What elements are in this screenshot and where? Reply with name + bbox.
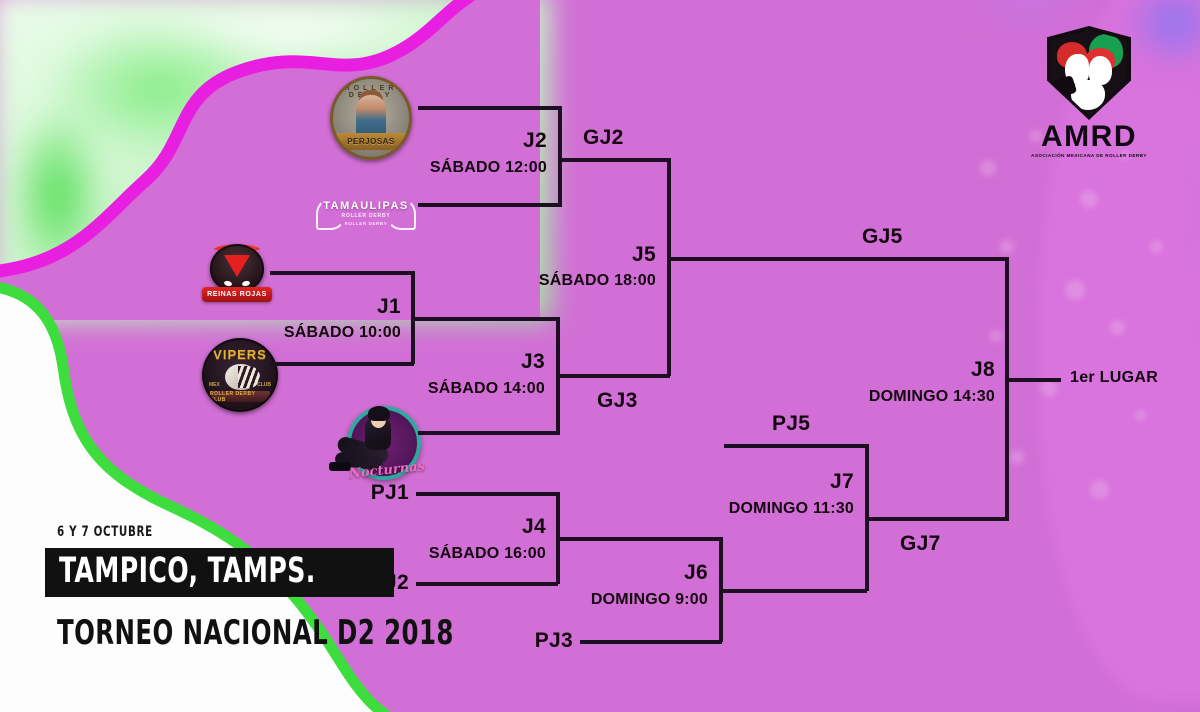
bracket-line-j6-out [719, 589, 867, 593]
vipers-pin-left: MEX [209, 382, 220, 388]
match-code-j7: J7 [830, 470, 854, 494]
team-logo-reinas-rojas: REINAS ROJAS [200, 230, 274, 302]
bracket-line-pj2 [416, 582, 558, 586]
team-logo-tamaulipas: TAMAULIPAS ROLLER DERBY ROLLER DERBY [314, 190, 418, 236]
bracket-connector-j2 [558, 106, 562, 207]
match-code-j4: J4 [522, 515, 546, 539]
amrd-logo: AMRD ASOCIACIÓN MEXICANA DE ROLLER DERBY [1030, 26, 1148, 158]
match-code-j3: J3 [521, 350, 545, 374]
match-time-j1: SÁBADO 10:00 [284, 324, 401, 342]
match-time-j3: SÁBADO 14:00 [428, 380, 545, 398]
event-title: TORNEO NACIONAL D2 2018 [57, 616, 553, 650]
bracket-line-gj3-out [556, 374, 670, 378]
vipers-name: VIPERS [204, 347, 276, 362]
match-time-j7: DOMINGO 11:30 [729, 500, 854, 518]
slot-label-pj5: PJ5 [772, 412, 810, 436]
match-code-j5: J5 [632, 243, 656, 267]
amrd-skater-arms [1071, 80, 1105, 110]
event-title-text: TORNEO NACIONAL D2 2018 [57, 616, 454, 650]
reinas-name-ribbon: REINAS ROJAS [202, 287, 272, 302]
bracket-connector-j8 [1005, 257, 1009, 519]
vipers-pin-right: CLUB [257, 382, 271, 388]
amrd-full-name: ASOCIACIÓN MEXICANA DE ROLLER DERBY [1030, 153, 1148, 158]
tamaulipas-subtitle-2: ROLLER DERBY [345, 221, 388, 226]
event-city-banner: TAMPICO, TAMPS. [45, 548, 394, 597]
tamaulipas-name: TAMAULIPAS [323, 200, 408, 212]
slot-label-gj5: GJ5 [862, 225, 903, 249]
bracket-line-final-out [1005, 378, 1061, 382]
slot-label-gj7: GJ7 [900, 532, 941, 556]
slot-label-pj1: PJ1 [371, 481, 409, 505]
nocturnas-hair [368, 406, 390, 421]
reinas-eye-right [224, 280, 233, 287]
amrd-shield-inner [1051, 30, 1127, 116]
match-code-j2: J2 [523, 129, 547, 153]
event-city-text: TAMPICO, TAMPS. [59, 554, 316, 589]
bracket-line-gj5-out [667, 257, 1007, 261]
team-logo-vipers: VIPERS MEX CLUB ROLLER DERBY CLUB [202, 338, 278, 412]
bracket-line-pj3 [580, 640, 722, 644]
tamaulipas-subtitle: ROLLER DERBY [341, 213, 390, 219]
bracket-line-pj5 [724, 444, 868, 448]
perjosas-name-banner: PERJOSAS [335, 133, 407, 150]
event-date: 6 Y 7 OCTUBRE [57, 524, 153, 540]
final-result-label: 1er LUGAR [1070, 369, 1158, 387]
bracket-line-gj2-out [558, 158, 670, 162]
tournament-bracket-poster: ROLLER DERBY PERJOSAS TAMAULIPAS ROLLER … [0, 0, 1200, 712]
team-logo-perjosas: ROLLER DERBY PERJOSAS [330, 76, 412, 160]
vipers-subtitle: ROLLER DERBY CLUB [210, 391, 270, 402]
bracket-line-j2-top [418, 106, 562, 110]
match-time-j8: DOMINGO 14:30 [869, 388, 995, 406]
match-time-j5: SÁBADO 18:00 [539, 272, 656, 290]
match-code-j6: J6 [684, 561, 708, 585]
match-code-j1: J1 [377, 295, 401, 319]
bracket-line-j2-bottom [418, 203, 562, 207]
match-time-j6: DOMINGO 9:00 [591, 591, 708, 609]
match-code-j8: J8 [971, 358, 995, 382]
bracket-connector-j5 [667, 158, 671, 376]
bracket-line-gj7-out [865, 517, 1009, 521]
bracket-line-j1-bottom [270, 362, 414, 366]
reinas-eye-left [242, 280, 251, 287]
reinas-face [224, 255, 250, 277]
bracket-line-pj1 [416, 492, 558, 496]
reinas-helmet [210, 244, 264, 292]
slot-label-gj3: GJ3 [597, 389, 638, 413]
team-logo-nocturnas: Nocturnas [325, 402, 417, 482]
bracket-line-j1-to-j3 [411, 317, 559, 321]
match-time-j2: SÁBADO 12:00 [430, 159, 547, 177]
bracket-line-j3-bottom [418, 431, 560, 435]
bracket-line-j1-top [270, 271, 414, 275]
slot-label-gj2: GJ2 [583, 126, 624, 150]
match-time-j4: SÁBADO 16:00 [429, 545, 546, 563]
amrd-shield-icon [1047, 26, 1131, 120]
bracket-line-j4-to-j6 [556, 537, 722, 541]
amrd-acronym: AMRD [1030, 122, 1148, 152]
